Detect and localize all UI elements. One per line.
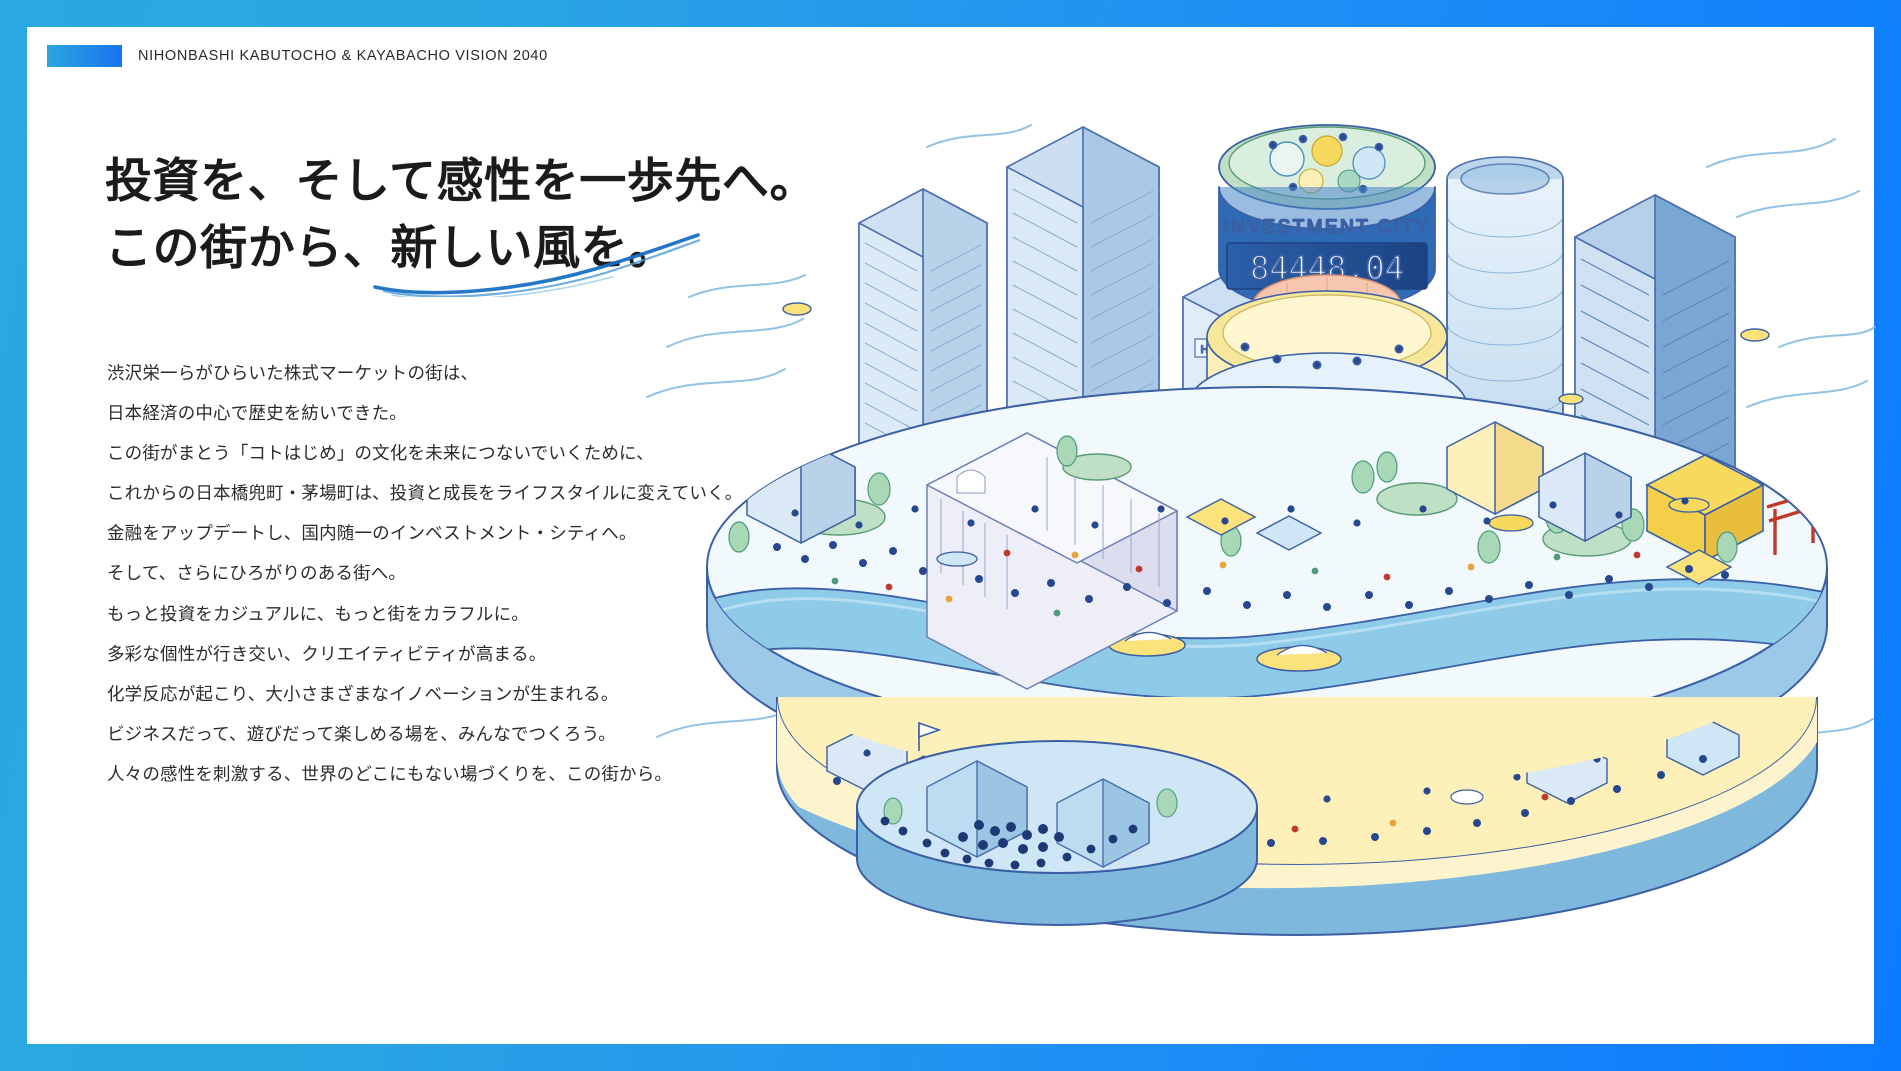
header-title: NIHONBASHI KABUTOCHO & KAYABACHO VISION … bbox=[138, 48, 548, 64]
city-illustration: HOTEL bbox=[627, 47, 1877, 1027]
header: NIHONBASHI KABUTOCHO & KAYABACHO VISION … bbox=[47, 45, 548, 67]
header-accent-bar bbox=[47, 45, 122, 67]
content-card: NIHONBASHI KABUTOCHO & KAYABACHO VISION … bbox=[27, 27, 1874, 1044]
investment-city-sign-text: INVESTMENT CITY bbox=[1224, 217, 1431, 238]
page-frame: NIHONBASHI KABUTOCHO & KAYABACHO VISION … bbox=[0, 0, 1901, 1071]
